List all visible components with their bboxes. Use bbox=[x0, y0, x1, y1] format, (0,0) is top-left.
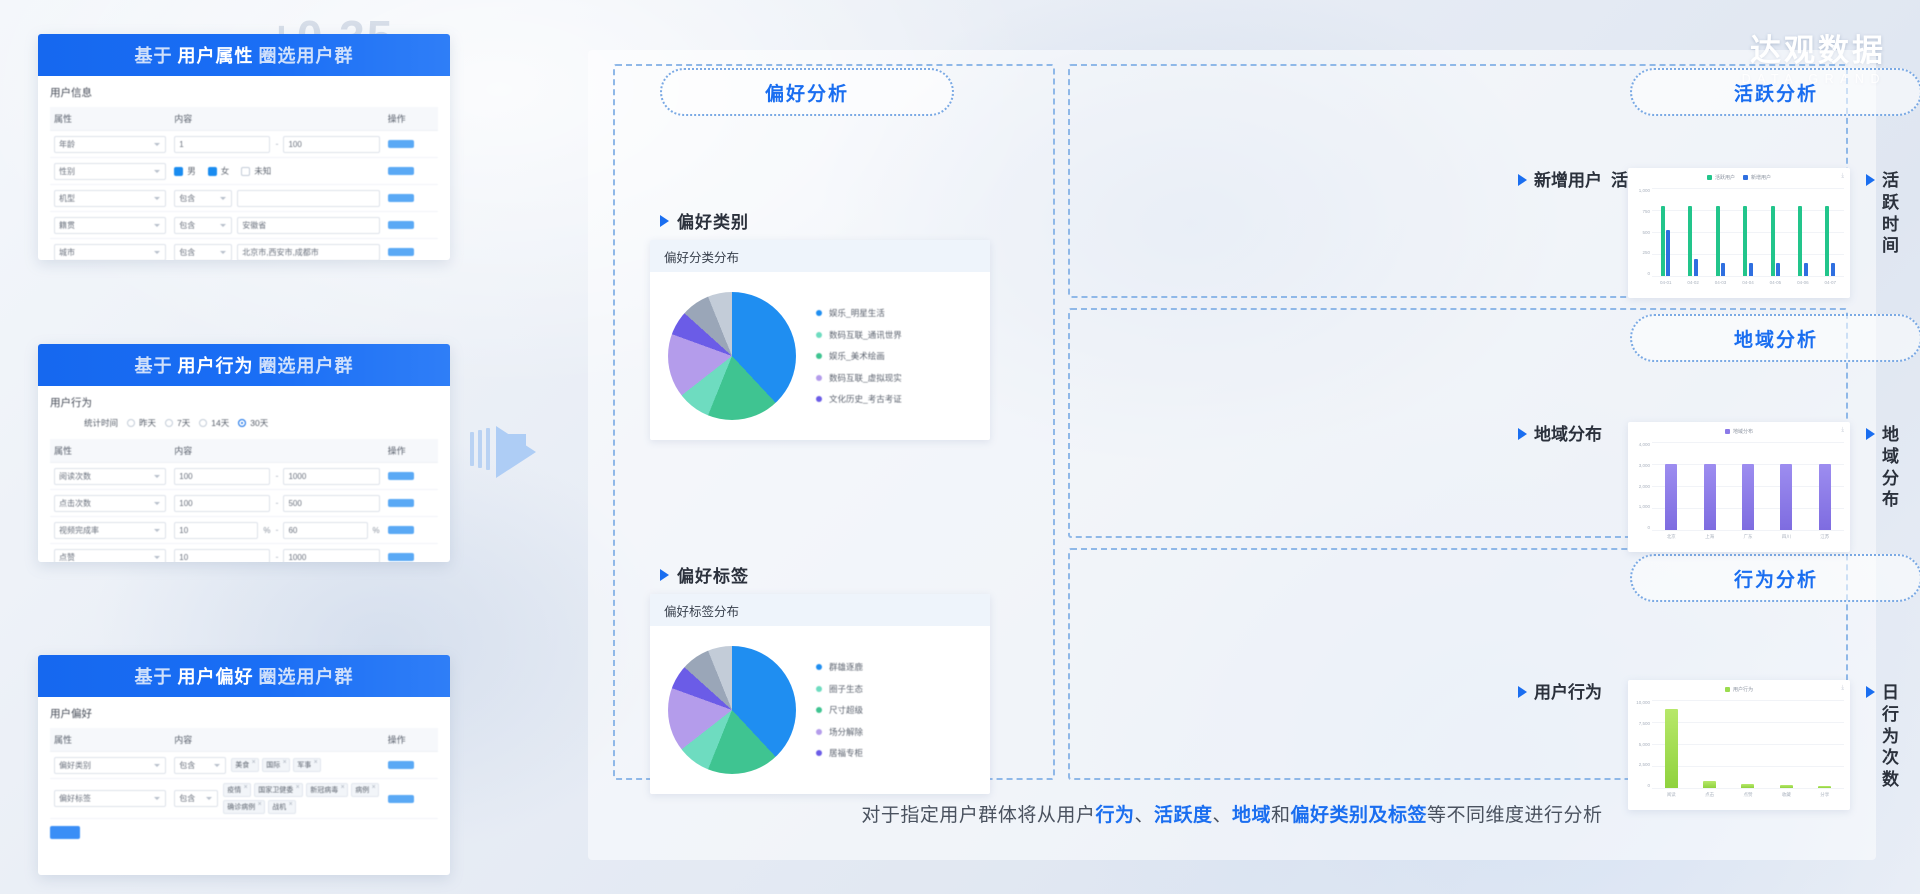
delete-button[interactable] bbox=[388, 221, 414, 229]
card-header-prefix: 基于 bbox=[135, 42, 173, 68]
card-header: 基于 用户行为 圈选用户群 bbox=[38, 344, 450, 386]
y-axis: 10,0007,5005,0002,5000 bbox=[1630, 700, 1650, 788]
delete-button[interactable] bbox=[388, 761, 414, 769]
caption-part: 、 bbox=[1134, 805, 1154, 826]
attr-select[interactable]: 籍贯 bbox=[54, 217, 166, 234]
table-row: 点赞 10 - 1000 bbox=[50, 544, 438, 563]
download-icon[interactable]: ⤓ bbox=[1841, 427, 1844, 434]
range-max-input[interactable]: 1000 bbox=[283, 549, 379, 563]
label-daily-behavior-count: 日行为次数 bbox=[1866, 682, 1899, 791]
column-header-op: 操作 bbox=[384, 439, 438, 463]
legend-item: 娱乐_明星生活 bbox=[816, 307, 902, 319]
attr-select[interactable]: 点赞 bbox=[54, 549, 166, 563]
attr-select[interactable]: 城市 bbox=[54, 244, 166, 261]
column-header-op: 操作 bbox=[384, 728, 438, 752]
vlabel-col: 活跃时间 bbox=[1882, 170, 1899, 257]
legend-item: 活跃用户 bbox=[1707, 174, 1735, 181]
pill-activity-analysis: 活跃分析 bbox=[1630, 68, 1920, 116]
range-max-input[interactable]: 1000 bbox=[283, 468, 379, 485]
chart-card-preference-category: 偏好分类分布 娱乐_明星生活 数码互联_通讯世界 娱乐_美术绘画 数码互联_虚拟… bbox=[650, 240, 990, 440]
delete-button[interactable] bbox=[388, 248, 414, 256]
range-dash: - bbox=[275, 139, 278, 149]
flow-arrow-icon bbox=[470, 420, 560, 478]
section-title: 用户信息 bbox=[50, 85, 438, 100]
checkbox-male[interactable] bbox=[174, 167, 183, 176]
column-header-value: 内容 bbox=[170, 728, 383, 752]
chart-area: 群雄逐鹿 圈子生态 尺寸超级 场分解除 居福专柜 bbox=[650, 626, 990, 794]
range-max-input[interactable]: 60 bbox=[283, 522, 367, 539]
tag-item[interactable]: 军事 bbox=[293, 758, 321, 772]
triangle-icon bbox=[660, 569, 669, 581]
legend-item: 圈子生态 bbox=[816, 683, 863, 695]
triangle-icon bbox=[1866, 428, 1875, 440]
radio-14days[interactable]: 14天 bbox=[199, 417, 229, 429]
label-geo-distribution-right: 地域分布 bbox=[1866, 424, 1899, 511]
range-min-input[interactable]: 10 bbox=[174, 549, 270, 563]
triangle-icon bbox=[1518, 686, 1527, 698]
column-header-value: 内容 bbox=[170, 439, 383, 463]
card-user-attributes: 基于 用户属性 圈选用户群 用户信息 属性 内容 操作 年龄 1 - 100 性… bbox=[38, 34, 450, 260]
card-body: 用户行为 统计时间 昨天 7天 14天 30天 属性 内容 操作 阅读次数 10… bbox=[38, 386, 450, 562]
card-header: 基于 用户属性 圈选用户群 bbox=[38, 34, 450, 76]
legend-item: 新增用户 bbox=[1743, 174, 1771, 181]
chart-behavior-bar: 用户行为 ⤓ 10,0007,5005,0002,5000 阅读点击点赞收藏分享 bbox=[1628, 680, 1850, 810]
table-row: 阅读次数 100 - 1000 bbox=[50, 463, 438, 490]
caption-highlight: 地域 bbox=[1232, 805, 1271, 826]
radio-dot bbox=[238, 419, 246, 427]
operator-select[interactable]: 包含 bbox=[174, 757, 226, 774]
chart-title: 偏好标签分布 bbox=[650, 594, 990, 626]
analysis-panel: 偏好分析 活跃分析 地域分析 行为分析 偏好类别 偏好标签 偏好分类分布 娱乐_… bbox=[588, 50, 1876, 860]
delete-button[interactable] bbox=[388, 553, 414, 561]
legend-label: 居福专柜 bbox=[829, 747, 863, 759]
add-condition-button[interactable] bbox=[50, 826, 80, 839]
radio-group-label: 统计时间 bbox=[84, 417, 118, 429]
radio-30days[interactable]: 30天 bbox=[238, 417, 268, 429]
tag-item[interactable]: 病例 bbox=[351, 783, 379, 797]
chart-legend: 娱乐_明星生活 数码互联_通讯世界 娱乐_美术绘画 数码互联_虚拟现实 文化历史… bbox=[816, 307, 902, 405]
table-header-row: 属性 内容 操作 bbox=[50, 728, 438, 752]
download-icon[interactable]: ⤓ bbox=[1841, 173, 1844, 180]
pie-chart bbox=[668, 646, 796, 774]
caption-highlight: 活跃度 bbox=[1154, 805, 1213, 826]
bullet-preference-tag: 偏好标签 bbox=[660, 562, 749, 587]
tag-list[interactable]: 美食 国际 军事 bbox=[231, 758, 321, 772]
tag-item[interactable]: 疫情 bbox=[223, 783, 251, 797]
operator-select[interactable]: 包含 bbox=[174, 244, 232, 261]
range-min-input[interactable]: 100 bbox=[174, 495, 270, 512]
legend-item: 群雄逐鹿 bbox=[816, 661, 863, 673]
triangle-icon bbox=[1866, 686, 1875, 698]
x-axis: 阅读点击点赞收藏分享 bbox=[1652, 789, 1844, 800]
legend-label: 数码互联_虚拟现实 bbox=[829, 372, 902, 384]
plot-area: 1,0007505002500 04-0104-0204-0304-0404-0… bbox=[1652, 188, 1844, 288]
legend-label: 场分解除 bbox=[829, 726, 863, 738]
radio-label: 7天 bbox=[177, 417, 190, 429]
card-header-suffix: 圈选用户群 bbox=[259, 663, 354, 689]
chart-geo-bar: 地域分布 ⤓ 4,0003,0002,0001,0000 北京上海广东四川江苏 bbox=[1628, 422, 1850, 552]
bullet-preference-category: 偏好类别 bbox=[660, 208, 749, 233]
radio-dot bbox=[199, 419, 207, 427]
tag-item[interactable]: 战机 bbox=[268, 800, 296, 814]
attr-select[interactable]: 视频完成率 bbox=[54, 522, 166, 539]
vlabel-col: 日行为次数 bbox=[1882, 682, 1899, 791]
checkbox-group[interactable]: 未知 bbox=[241, 165, 271, 177]
range-dash: - bbox=[275, 552, 278, 562]
legend-item: 尺寸超级 bbox=[816, 704, 863, 716]
table-row: 籍贯 包含 安徽省 bbox=[50, 212, 438, 239]
tag-item[interactable]: 新冠病毒 bbox=[306, 783, 348, 797]
checkbox-unknown[interactable] bbox=[241, 167, 250, 176]
legend-item: 文化历史_考古考证 bbox=[816, 393, 902, 405]
radio-dot bbox=[127, 419, 135, 427]
card-header-suffix: 圈选用户群 bbox=[259, 42, 354, 68]
attr-select[interactable]: 年龄 bbox=[54, 136, 166, 153]
download-icon[interactable]: ⤓ bbox=[1841, 685, 1844, 692]
table-row: 偏好类别 包含 美食 国际 军事 bbox=[50, 752, 438, 779]
bar-series bbox=[1652, 188, 1844, 276]
vlabel-col: 用户行为 bbox=[1534, 682, 1602, 704]
plot-area: 10,0007,5005,0002,5000 阅读点击点赞收藏分享 bbox=[1652, 700, 1844, 800]
bar-series bbox=[1652, 442, 1844, 530]
range-dash: - bbox=[275, 471, 278, 481]
checkbox-label: 未知 bbox=[254, 165, 271, 177]
pill-behavior-analysis: 行为分析 bbox=[1630, 554, 1920, 602]
pill-geography-analysis: 地域分析 bbox=[1630, 314, 1920, 362]
section-title: 用户偏好 bbox=[50, 706, 438, 721]
preference-table: 属性 内容 操作 偏好类别 包含 美食 国际 军事 偏好标签 bbox=[50, 728, 438, 819]
table-header-row: 属性 内容 操作 bbox=[50, 107, 438, 131]
label-geo-distribution-left: 地域分布 bbox=[1518, 424, 1602, 446]
legend-label: 娱乐_明星生活 bbox=[829, 307, 885, 319]
legend-label: 娱乐_美术绘画 bbox=[829, 350, 885, 362]
legend-item: 用户行为 bbox=[1725, 686, 1753, 693]
pie-chart bbox=[668, 292, 796, 420]
legend-item: 地域分布 bbox=[1725, 428, 1753, 435]
range-dash: - bbox=[275, 498, 278, 508]
range-dash: - bbox=[275, 525, 278, 535]
delete-button[interactable] bbox=[388, 526, 414, 534]
table-row: 视频完成率 10 % - 60 % bbox=[50, 517, 438, 544]
legend-label: 文化历史_考古考证 bbox=[829, 393, 902, 405]
label-user-behavior: 用户行为 bbox=[1518, 682, 1602, 704]
panel-caption: 对于指定用户群体将从用户行为、活跃度、地域和偏好类别及标签等不同维度进行分析 bbox=[588, 800, 1876, 827]
legend-item: 数码互联_通讯世界 bbox=[816, 329, 902, 341]
radio-dot bbox=[165, 419, 173, 427]
attr-select[interactable]: 偏好类别 bbox=[54, 757, 166, 774]
triangle-icon bbox=[660, 215, 669, 227]
radio-label: 昨天 bbox=[139, 417, 156, 429]
table-row: 城市 包含 北京市,西安市,成都市 bbox=[50, 239, 438, 261]
checkbox-group[interactable]: 女 bbox=[208, 165, 230, 177]
bullet-label: 偏好类别 bbox=[677, 208, 749, 233]
attr-select[interactable]: 点击次数 bbox=[54, 495, 166, 512]
table-row: 机型 包含 bbox=[50, 185, 438, 212]
radio-yesterday[interactable]: 昨天 bbox=[127, 417, 156, 429]
tag-item[interactable]: 国际 bbox=[262, 758, 290, 772]
table-header-row: 属性 内容 操作 bbox=[50, 439, 438, 463]
caption-highlight: 偏好类别及标签 bbox=[1291, 805, 1428, 826]
column-header-value: 内容 bbox=[170, 107, 383, 131]
x-axis: 北京上海广东四川江苏 bbox=[1652, 531, 1844, 542]
legend-item: 娱乐_美术绘画 bbox=[816, 350, 902, 362]
range-min-input[interactable]: 1 bbox=[174, 136, 270, 153]
delete-button[interactable] bbox=[388, 194, 414, 202]
plot-area: 4,0003,0002,0001,0000 北京上海广东四川江苏 bbox=[1652, 442, 1844, 542]
value-input[interactable] bbox=[237, 190, 379, 207]
card-header: 基于 用户偏好 圈选用户群 bbox=[38, 655, 450, 697]
tag-list[interactable]: 疫情 国家卫健委 新冠病毒 病例 确诊病例 战机 bbox=[223, 783, 379, 814]
unit-percent: % bbox=[263, 526, 270, 535]
vlabel-col: 地域分布 bbox=[1534, 424, 1602, 446]
y-axis: 4,0003,0002,0001,0000 bbox=[1630, 442, 1650, 530]
triangle-icon bbox=[1518, 428, 1527, 440]
tag-item[interactable]: 确诊病例 bbox=[223, 800, 265, 814]
table-row: 点击次数 100 - 500 bbox=[50, 490, 438, 517]
chart-legend: 用户行为 ⤓ bbox=[1628, 680, 1850, 698]
attr-select[interactable]: 阅读次数 bbox=[54, 468, 166, 485]
column-header-attr: 属性 bbox=[50, 728, 170, 752]
attr-select[interactable]: 偏好标签 bbox=[54, 790, 166, 807]
card-header-highlight: 用户属性 bbox=[178, 42, 254, 68]
delete-button[interactable] bbox=[388, 167, 414, 175]
card-header-prefix: 基于 bbox=[135, 663, 173, 689]
checkbox-label: 男 bbox=[187, 165, 196, 177]
legend-item: 场分解除 bbox=[816, 726, 863, 738]
chart-title: 偏好分类分布 bbox=[650, 240, 990, 272]
label-active-time: 活跃时间 bbox=[1866, 170, 1899, 257]
legend-item: 居福专柜 bbox=[816, 747, 863, 759]
operator-select[interactable]: 包含 bbox=[174, 790, 218, 807]
delete-button[interactable] bbox=[388, 499, 414, 507]
legend-label: 数码互联_通讯世界 bbox=[829, 329, 902, 341]
radio-7days[interactable]: 7天 bbox=[165, 417, 190, 429]
checkbox-label: 女 bbox=[221, 165, 230, 177]
chart-legend: 地域分布 ⤓ bbox=[1628, 422, 1850, 440]
delete-button[interactable] bbox=[388, 795, 414, 803]
vlabel-col: 新增用户 bbox=[1534, 170, 1602, 192]
card-body: 用户偏好 属性 内容 操作 偏好类别 包含 美食 国际 军事 bbox=[38, 697, 450, 844]
table-row: 年龄 1 - 100 bbox=[50, 131, 438, 158]
vlabel-col: 地域分布 bbox=[1882, 424, 1899, 511]
legend-label: 尺寸超级 bbox=[829, 704, 863, 716]
y-axis: 1,0007505002500 bbox=[1630, 188, 1650, 276]
unit-percent-2: % bbox=[373, 526, 380, 535]
card-user-behavior: 基于 用户行为 圈选用户群 用户行为 统计时间 昨天 7天 14天 30天 属性… bbox=[38, 344, 450, 562]
table-row: 性别 男 女 未知 bbox=[50, 158, 438, 185]
column-header-attr: 属性 bbox=[50, 439, 170, 463]
checkbox-female[interactable] bbox=[208, 167, 217, 176]
value-input[interactable]: 安徽省 bbox=[237, 217, 379, 234]
bullet-label: 偏好标签 bbox=[677, 562, 749, 587]
bar-series bbox=[1652, 700, 1844, 788]
chart-new-active-users: 活跃用户 新增用户 ⤓ 1,0007505002500 04-0104-0204… bbox=[1628, 168, 1850, 298]
caption-part: 等不同维度进行分析 bbox=[1427, 805, 1603, 826]
card-user-preference: 基于 用户偏好 圈选用户群 用户偏好 属性 内容 操作 偏好类别 包含 美食 国… bbox=[38, 655, 450, 875]
card-header-highlight: 用户偏好 bbox=[178, 663, 254, 689]
card-header-prefix: 基于 bbox=[135, 352, 173, 378]
radio-label: 30天 bbox=[250, 417, 268, 429]
range-min-input[interactable]: 10 bbox=[174, 522, 258, 539]
caption-part: 、 bbox=[1212, 805, 1232, 826]
column-header-attr: 属性 bbox=[50, 107, 170, 131]
time-range-radio-group[interactable]: 统计时间 昨天 7天 14天 30天 bbox=[84, 417, 438, 429]
attr-select[interactable]: 性别 bbox=[54, 163, 166, 180]
range-max-input[interactable]: 500 bbox=[283, 495, 379, 512]
pill-preference-analysis: 偏好分析 bbox=[660, 68, 954, 116]
card-body: 用户信息 属性 内容 操作 年龄 1 - 100 性别 男 女 bbox=[38, 76, 450, 260]
attr-select[interactable]: 机型 bbox=[54, 190, 166, 207]
legend-label: 圈子生态 bbox=[829, 683, 863, 695]
chart-legend: 活跃用户 新增用户 ⤓ bbox=[1628, 168, 1850, 186]
x-axis: 04-0104-0204-0304-0404-0504-0604-07 bbox=[1652, 277, 1844, 288]
caption-highlight: 行为 bbox=[1095, 805, 1134, 826]
behavior-table: 属性 内容 操作 阅读次数 100 - 1000 点击次数 100 - 500 bbox=[50, 439, 438, 562]
tag-item[interactable]: 国家卫健委 bbox=[254, 783, 303, 797]
delete-button[interactable] bbox=[388, 140, 414, 148]
attribute-table: 属性 内容 操作 年龄 1 - 100 性别 男 女 未知 bbox=[50, 107, 438, 260]
operator-select[interactable]: 包含 bbox=[174, 217, 232, 234]
checkbox-group[interactable]: 男 bbox=[174, 165, 196, 177]
column-header-op: 操作 bbox=[384, 107, 438, 131]
range-max-input[interactable]: 100 bbox=[283, 136, 379, 153]
triangle-icon bbox=[1866, 174, 1875, 186]
tag-item[interactable]: 美食 bbox=[231, 758, 259, 772]
card-header-suffix: 圈选用户群 bbox=[259, 352, 354, 378]
chart-legend: 群雄逐鹿 圈子生态 尺寸超级 场分解除 居福专柜 bbox=[816, 661, 863, 759]
chart-card-preference-tag: 偏好标签分布 群雄逐鹿 圈子生态 尺寸超级 场分解除 居福专柜 bbox=[650, 594, 990, 794]
radio-label: 14天 bbox=[211, 417, 229, 429]
delete-button[interactable] bbox=[388, 472, 414, 480]
chart-area: 娱乐_明星生活 数码互联_通讯世界 娱乐_美术绘画 数码互联_虚拟现实 文化历史… bbox=[650, 272, 990, 440]
legend-item: 数码互联_虚拟现实 bbox=[816, 372, 902, 384]
operator-select[interactable]: 包含 bbox=[174, 190, 232, 207]
value-input[interactable]: 北京市,西安市,成都市 bbox=[237, 244, 379, 261]
legend-label: 群雄逐鹿 bbox=[829, 661, 863, 673]
card-header-highlight: 用户行为 bbox=[178, 352, 254, 378]
triangle-icon bbox=[1518, 174, 1527, 186]
table-row: 偏好标签 包含 疫情 国家卫健委 新冠病毒 病例 确诊病例 战机 bbox=[50, 779, 438, 819]
caption-part: 对于指定用户群体将从用户 bbox=[861, 805, 1095, 826]
section-title: 用户行为 bbox=[50, 395, 438, 410]
range-min-input[interactable]: 100 bbox=[174, 468, 270, 485]
caption-part: 和 bbox=[1271, 805, 1291, 826]
